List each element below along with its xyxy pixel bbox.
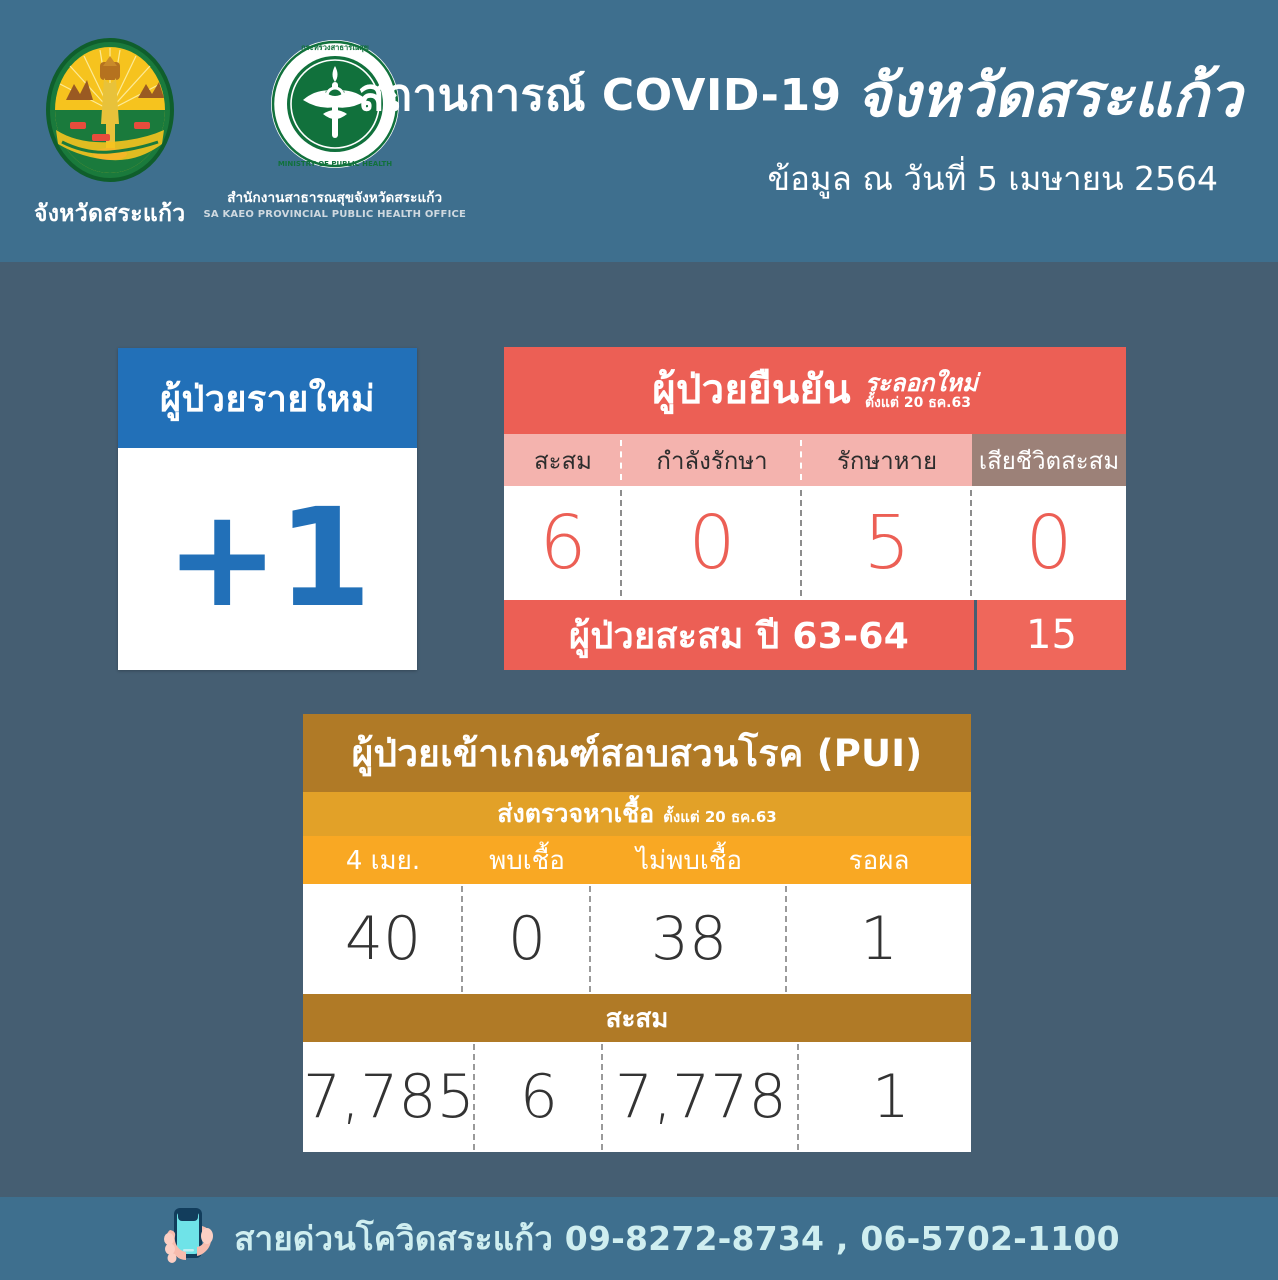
confirmed-col-header-deaths: เสียชีวิตสะสม	[972, 434, 1126, 486]
pui-card: ผู้ป่วยเข้าเกณฑ์สอบสวนโรค (PUI) ส่งตรวจห…	[303, 714, 971, 1126]
province-logo-block: จังหวัดสระแก้ว	[34, 38, 185, 232]
confirmed-cases-values-row: 6 0 5 0	[504, 486, 1126, 600]
pui-col-header-positive: พบเชื้อ	[463, 836, 591, 884]
pui-header: ผู้ป่วยเข้าเกณฑ์สอบสวนโรค (PUI)	[303, 714, 971, 792]
pui-col-header-pending: รอผล	[787, 836, 971, 884]
pui-column-headers: 4 เมย. พบเชื้อ ไม่พบเชื้อ รอผล	[303, 836, 971, 884]
pui-accumulated-pending: 1	[799, 1042, 983, 1152]
page-header: จังหวัดสระแก้ว กระทรวงสาธารณสุข	[0, 0, 1278, 262]
page-footer: สายด่วนโควิดสระแก้ว 09-8272-8734 , 06-57…	[0, 1197, 1278, 1280]
moph-logo-caption-english: SA KAEO PROVINCIAL PUBLIC HEALTH OFFICE	[203, 209, 466, 220]
pui-subtitle-bar: ส่งตรวจหาเชื้อ ตั้งแต่ 20 ธค.63	[303, 792, 971, 836]
confirmed-value-cumulative: 6	[504, 486, 622, 600]
header-title-group: สถานการณ์ COVID-19จังหวัดสระแก้ว ข้อมูล …	[358, 66, 1218, 205]
confirmed-col-header-treating: กำลังรักษา	[622, 434, 802, 486]
new-cases-header: ผู้ป่วยรายใหม่	[118, 348, 417, 448]
new-cases-body: +1	[118, 448, 417, 670]
pui-since-date: ตั้งแต่ 20 ธค.63	[663, 799, 777, 829]
pui-col-header-date: 4 เมย.	[303, 836, 463, 884]
province-logo-caption: จังหวัดสระแก้ว	[34, 196, 185, 232]
pui-subtitle-label: ส่งตรวจหาเชื้อ	[497, 794, 654, 834]
confirmed-value-treating: 0	[622, 486, 802, 600]
pui-accumulated-negative: 7,778	[603, 1042, 799, 1152]
confirmed-cases-title: ผู้ป่วยยืนยัน	[652, 357, 851, 421]
pui-accumulated-total: 7,785	[303, 1042, 475, 1152]
pui-daily-row: 40 0 38 1	[303, 884, 971, 994]
pui-col-header-negative: ไม่พบเชื้อ	[591, 836, 787, 884]
pui-accumulated-positive: 6	[475, 1042, 603, 1152]
pui-daily-positive: 0	[463, 884, 591, 994]
pui-daily-pending: 1	[787, 884, 971, 994]
pui-title: ผู้ป่วยเข้าเกณฑ์สอบสวนโรค (PUI)	[352, 724, 923, 783]
infographic-page: จังหวัดสระแก้ว กระทรวงสาธารณสุข	[0, 0, 1278, 1280]
pui-daily-negative: 38	[591, 884, 787, 994]
pui-daily-total: 40	[303, 884, 463, 994]
confirmed-value-recovered: 5	[802, 486, 972, 600]
pui-accumulated-bar: สะสม	[303, 994, 971, 1042]
pui-accumulated-label: สะสม	[606, 998, 669, 1039]
new-cases-value: +1	[165, 498, 370, 620]
confirmed-col-header-recovered: รักษาหาย	[802, 434, 972, 486]
pui-accumulated-row: 7,785 6 7,778 1	[303, 1042, 971, 1152]
confirmed-total-label: ผู้ป่วยสะสม ปี 63-64	[504, 600, 974, 670]
page-title-line: สถานการณ์ COVID-19จังหวัดสระแก้ว	[358, 66, 1218, 126]
page-title-province: จังหวัดสระแก้ว	[856, 61, 1242, 131]
confirmed-cases-card: ผู้ป่วยยืนยัน ระลอกใหม่ ตั้งแต่ 20 ธค.63…	[504, 347, 1126, 670]
confirmed-cases-column-headers: สะสม กำลังรักษา รักษาหาย เสียชีวิตสะสม	[504, 434, 1126, 486]
new-cases-card: ผู้ป่วยรายใหม่ +1	[118, 348, 417, 670]
phone-in-hand-icon	[158, 1204, 220, 1274]
confirmed-cases-wave-label: ระลอกใหม่	[865, 371, 978, 396]
page-title: สถานการณ์ COVID-19	[358, 70, 842, 121]
sa-kaeo-province-seal-icon	[42, 38, 178, 190]
confirmed-col-header-cumulative: สะสม	[504, 434, 622, 486]
data-date-line: ข้อมูล ณ วันที่ 5 เมษายน 2564	[358, 152, 1218, 205]
new-cases-label: ผู้ป่วยรายใหม่	[160, 370, 375, 427]
confirmed-value-deaths: 0	[972, 486, 1126, 600]
confirmed-cases-header: ผู้ป่วยยืนยัน ระลอกใหม่ ตั้งแต่ 20 ธค.63	[504, 347, 1126, 434]
confirmed-total-value: 15	[977, 600, 1126, 670]
svg-text:กระทรวงสาธารณสุข: กระทรวงสาธารณสุข	[301, 43, 369, 52]
confirmed-cases-since-date: ตั้งแต่ 20 ธค.63	[865, 396, 978, 411]
hotline-text: สายด่วนโควิดสระแก้ว 09-8272-8734 , 06-57…	[234, 1212, 1119, 1265]
confirmed-cases-total-row: ผู้ป่วยสะสม ปี 63-64 15	[504, 600, 1126, 670]
confirmed-cases-subtitle-group: ระลอกใหม่ ตั้งแต่ 20 ธค.63	[865, 367, 978, 411]
